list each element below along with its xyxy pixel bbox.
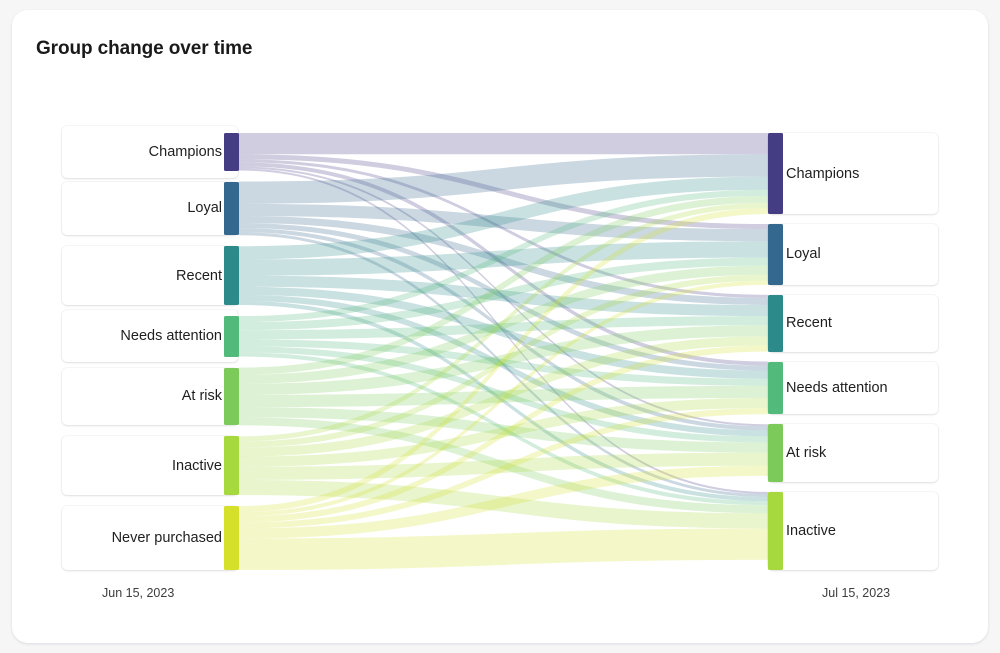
- screen-root: Group change over time ChampionsLoyalRec…: [0, 0, 1000, 653]
- sankey-node-left-never-purchased[interactable]: Never purchased: [62, 506, 238, 570]
- node-label: Champions: [786, 166, 859, 182]
- chart-card: Group change over time ChampionsLoyalRec…: [12, 10, 988, 643]
- node-label: Needs attention: [120, 328, 222, 344]
- sankey-node-left-needs-attention[interactable]: Needs attention: [62, 310, 238, 362]
- node-label: At risk: [786, 445, 826, 461]
- node-label: Champions: [149, 144, 222, 160]
- sankey-node-right-recent[interactable]: Recent: [768, 295, 938, 352]
- node-label: Inactive: [172, 458, 222, 474]
- sankey-node-right-needs-attention[interactable]: Needs attention: [768, 362, 938, 415]
- sankey-bar-left-inactive[interactable]: [224, 436, 239, 495]
- sankey-bar-left-recent[interactable]: [224, 246, 239, 305]
- sankey-node-right-inactive[interactable]: Inactive: [768, 492, 938, 570]
- node-label: At risk: [182, 388, 222, 404]
- sankey-node-right-loyal[interactable]: Loyal: [768, 224, 938, 285]
- sankey-node-left-champions[interactable]: Champions: [62, 126, 238, 178]
- node-label: Loyal: [187, 200, 222, 216]
- sankey-node-left-loyal[interactable]: Loyal: [62, 182, 238, 236]
- sankey-bar-left-never-purchased[interactable]: [224, 506, 239, 570]
- sankey-node-left-inactive[interactable]: Inactive: [62, 436, 238, 495]
- sankey-bar-right-recent[interactable]: [768, 295, 783, 352]
- node-label: Recent: [176, 268, 222, 284]
- sankey-node-left-recent[interactable]: Recent: [62, 246, 238, 305]
- sankey-bar-right-loyal[interactable]: [768, 224, 783, 285]
- axis-date-left: Jun 15, 2023: [102, 586, 174, 600]
- sankey-node-right-champions[interactable]: Champions: [768, 133, 938, 214]
- sankey-bar-left-champions[interactable]: [224, 133, 239, 171]
- sankey-bar-right-champions[interactable]: [768, 133, 783, 214]
- sankey-bar-left-at-risk[interactable]: [224, 368, 239, 426]
- sankey-bar-right-needs-attention[interactable]: [768, 362, 783, 415]
- sankey-bar-right-inactive[interactable]: [768, 492, 783, 570]
- node-label: Never purchased: [112, 530, 222, 546]
- node-label: Loyal: [786, 246, 821, 262]
- sankey-bar-right-at-risk[interactable]: [768, 424, 783, 482]
- sankey-node-left-at-risk[interactable]: At risk: [62, 368, 238, 426]
- sankey-chart: ChampionsLoyalRecentNeeds attentionAt ri…: [12, 10, 988, 643]
- axis-date-right: Jul 15, 2023: [822, 586, 890, 600]
- sankey-bar-left-loyal[interactable]: [224, 182, 239, 236]
- sankey-node-right-at-risk[interactable]: At risk: [768, 424, 938, 482]
- sankey-link[interactable]: [239, 133, 768, 154]
- node-label: Inactive: [786, 523, 836, 539]
- node-label: Recent: [786, 315, 832, 331]
- node-label: Needs attention: [786, 380, 888, 396]
- sankey-bar-left-needs-attention[interactable]: [224, 316, 239, 357]
